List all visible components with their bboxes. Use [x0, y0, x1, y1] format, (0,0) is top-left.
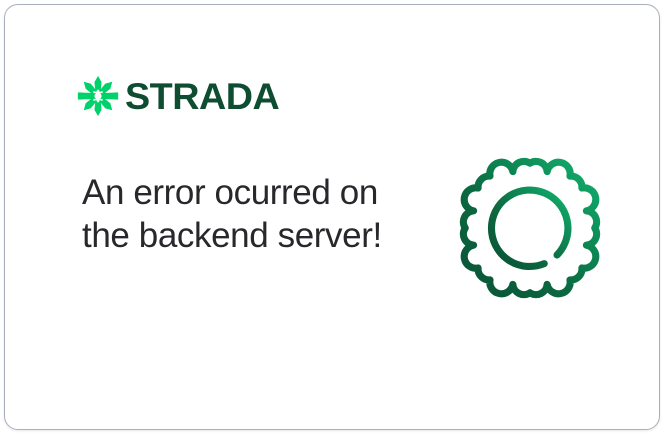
brand-wordmark: STRADA [125, 78, 279, 115]
strada-asterisk-icon [77, 75, 119, 117]
error-card: STRADA An error ocurred on the backend s… [4, 4, 660, 430]
brand-lockup: STRADA [77, 75, 276, 117]
error-message-headline: An error ocurred on the backend server! [82, 171, 382, 257]
gear-cog-icon [451, 149, 609, 307]
